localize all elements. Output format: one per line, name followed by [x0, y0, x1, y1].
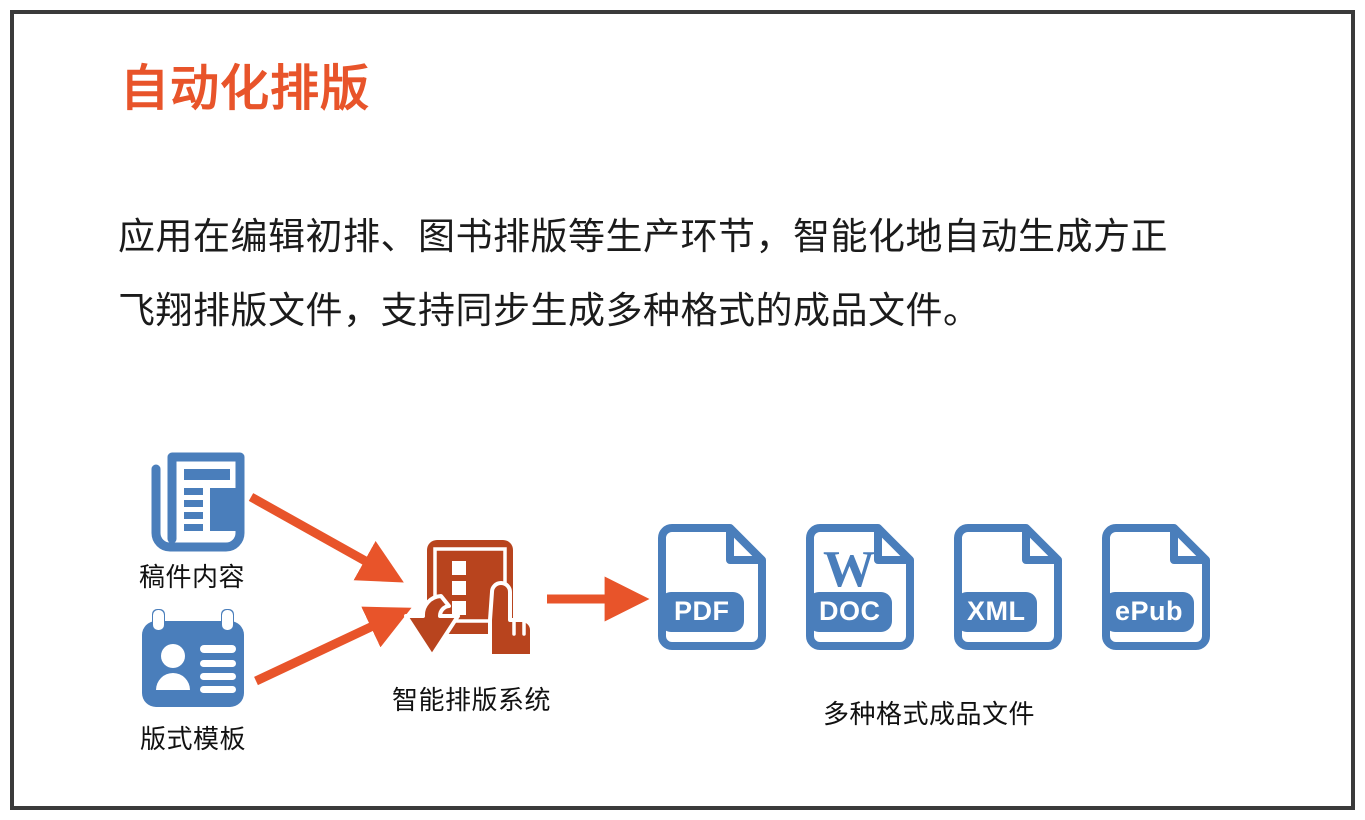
- arrow-template-to-system: [256, 617, 392, 681]
- file-xml-icon[interactable]: XML: [940, 524, 1078, 652]
- diagram-node-source[interactable]: 稿件内容: [132, 435, 252, 594]
- file-doc-icon[interactable]: W DOC: [792, 524, 930, 652]
- body-line-1: 应用在编辑初排、图书排版等生产环节，智能化地自动生成方正: [118, 200, 1278, 274]
- body-line-2: 飞翔排版文件，支持同步生成多种格式的成品文件。: [118, 274, 1278, 348]
- output-caption: 多种格式成品文件: [644, 694, 1214, 731]
- file-pdf-icon[interactable]: PDF: [644, 524, 782, 652]
- diagram-node-source-label: 稿件内容: [139, 557, 245, 594]
- tablet-hands-icon: [394, 534, 549, 674]
- diagram-node-system[interactable]: 智能排版系统: [392, 534, 551, 717]
- diagram-node-system-label: 智能排版系统: [392, 680, 551, 717]
- file-doc-badge: DOC: [808, 592, 892, 632]
- id-card-icon: [132, 607, 254, 717]
- file-icon-row: PDF W DOC XML: [644, 524, 1244, 652]
- file-xml-badge: XML: [956, 592, 1037, 632]
- word-w-mark: W: [823, 541, 875, 598]
- output-files-group: PDF W DOC XML: [644, 524, 1244, 731]
- slide-frame: 自动化排版 应用在编辑初排、图书排版等生产环节，智能化地自动生成方正 飞翔排版文…: [10, 10, 1355, 810]
- workflow-diagram: 稿件内容 版式模板: [14, 409, 1351, 794]
- file-epub-icon[interactable]: ePub: [1088, 524, 1226, 652]
- arrow-source-to-system: [251, 497, 385, 572]
- body-paragraph: 应用在编辑初排、图书排版等生产环节，智能化地自动生成方正 飞翔排版文件，支持同步…: [118, 200, 1278, 348]
- file-epub-badge: ePub: [1104, 592, 1194, 632]
- newspaper-icon: [132, 435, 252, 555]
- diagram-node-template[interactable]: 版式模板: [132, 607, 254, 756]
- file-pdf-badge: PDF: [660, 592, 744, 632]
- page-title: 自动化排版: [120, 61, 370, 117]
- diagram-node-template-label: 版式模板: [140, 719, 246, 756]
